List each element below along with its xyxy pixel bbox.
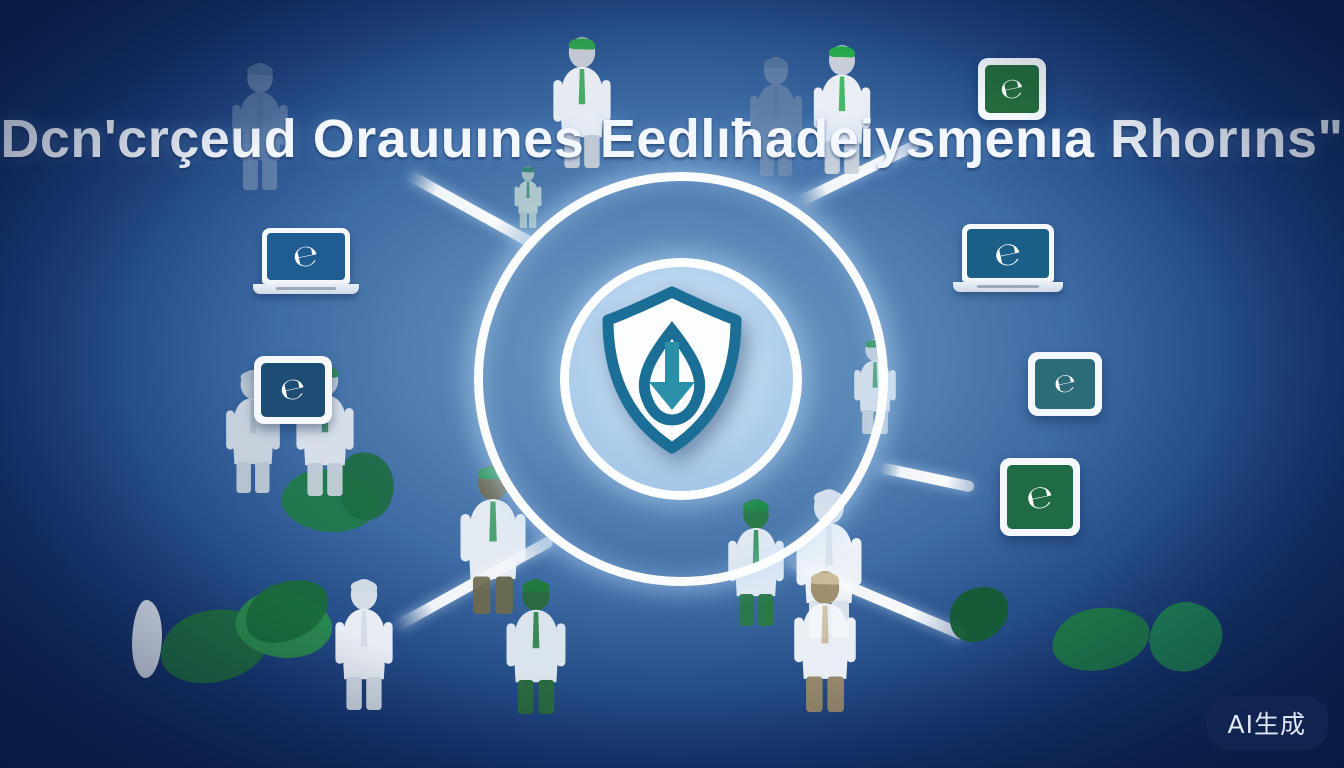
ai-generated-watermark: AI生成 <box>1206 696 1328 750</box>
laptop-keyboard-base <box>253 284 359 294</box>
blob-bottom-right-2 <box>1145 597 1226 676</box>
figure-bottom-center <box>782 570 868 712</box>
device-screen: ℮ <box>985 65 1039 113</box>
blob-bottom-left-4 <box>132 600 162 678</box>
device-screen-glyph: ℮ <box>1023 479 1056 516</box>
device-bezel: ℮ <box>1000 458 1080 536</box>
laptop-lid: ℮ <box>962 224 1054 282</box>
laptop-screen: ℮ <box>267 233 345 280</box>
tablet-icon-right[interactable]: ℮ <box>1028 352 1102 416</box>
device-screen-glyph: ℮ <box>277 373 308 408</box>
laptop-keyboard-base <box>953 282 1063 292</box>
laptop-icon-left[interactable]: ℮ <box>262 228 350 294</box>
spoke-right-edge <box>879 462 975 493</box>
illustration-canvas: ℮℮℮℮℮℮ Dcn'crçeud Orauuınes Eedlıħadeiys… <box>0 0 1344 768</box>
laptop-icon-right[interactable]: ℮ <box>962 224 1054 292</box>
device-screen-glyph: ℮ <box>991 235 1024 272</box>
device-bezel: ℮ <box>1028 352 1102 416</box>
laptop-lid: ℮ <box>262 228 350 284</box>
blob-bottom-right-1 <box>1049 603 1153 675</box>
monitor-icon-left-group[interactable]: ℮ <box>254 356 332 424</box>
figure-bottom-left <box>326 578 402 710</box>
device-bezel: ℮ <box>254 356 332 424</box>
shield-download-emblem <box>596 286 748 454</box>
blob-bottom-right-3 <box>940 578 1018 651</box>
device-screen: ℮ <box>261 363 325 417</box>
device-screen: ℮ <box>1007 465 1073 529</box>
device-screen-glyph: ℮ <box>290 239 321 274</box>
figure-ring-left <box>500 166 556 228</box>
page-title: Dcn'crçeud Orauuınes Eedlıħadeiysɱenıa R… <box>0 108 1344 170</box>
monitor-icon-lower-right[interactable]: ℮ <box>1000 458 1080 536</box>
device-screen-glyph: ℮ <box>997 73 1026 105</box>
device-screen: ℮ <box>1035 359 1095 409</box>
figure-center-bottom <box>494 578 578 714</box>
laptop-screen: ℮ <box>967 229 1049 278</box>
device-screen-glyph: ℮ <box>1051 369 1078 399</box>
